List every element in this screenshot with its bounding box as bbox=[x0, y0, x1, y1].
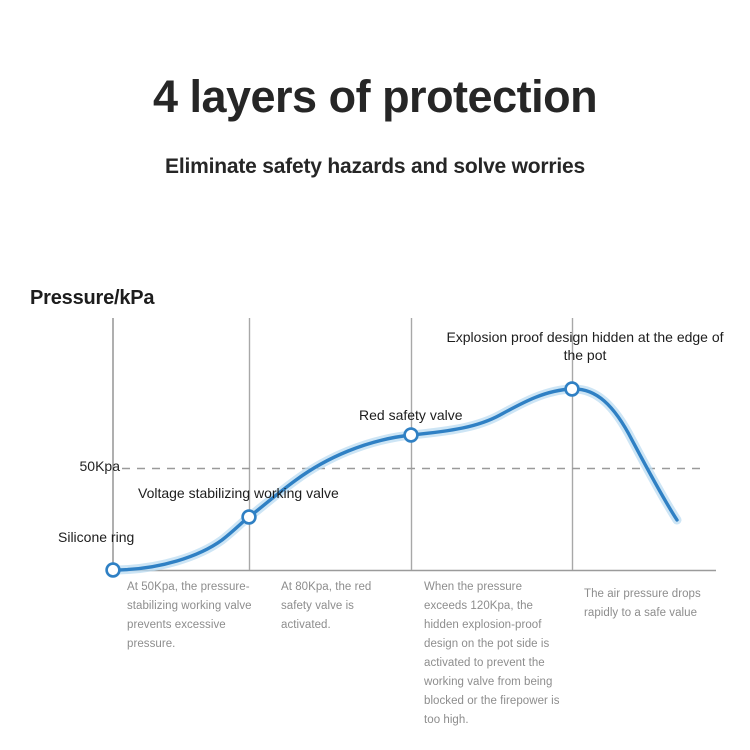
data-point-voltage-stabilizing-valve[interactable] bbox=[243, 511, 256, 524]
pressure-curve-chart: Pressure/kPa 50Kpa Silicone ring Voltage… bbox=[0, 0, 750, 750]
annotation-red-safety-valve: Red safety valve bbox=[359, 406, 463, 424]
stage-caption-4: The air pressure drops rapidly to a safe… bbox=[584, 585, 734, 623]
y-axis-title: Pressure/kPa bbox=[30, 286, 154, 310]
data-point-silicone-ring[interactable] bbox=[107, 564, 120, 577]
infographic-page: 4 layers of protection Eliminate safety … bbox=[0, 0, 750, 750]
stage-caption-1: At 50Kpa, the pressure-stabilizing worki… bbox=[127, 578, 257, 654]
annotation-explosion-proof-design: Explosion proof design hidden at the edg… bbox=[435, 328, 735, 364]
chart-canvas bbox=[0, 0, 750, 750]
data-point-explosion-proof-design[interactable] bbox=[566, 383, 579, 396]
stage-caption-3: When the pressure exceeds 120Kpa, the hi… bbox=[424, 578, 566, 730]
data-point-red-safety-valve[interactable] bbox=[405, 429, 418, 442]
threshold-tick-label: 50Kpa bbox=[40, 457, 120, 475]
annotation-silicone-ring: Silicone ring bbox=[58, 528, 134, 546]
annotation-voltage-stabilizing-valve: Voltage stabilizing working valve bbox=[138, 484, 339, 502]
stage-caption-2: At 80Kpa, the red safety valve is activa… bbox=[281, 578, 401, 635]
